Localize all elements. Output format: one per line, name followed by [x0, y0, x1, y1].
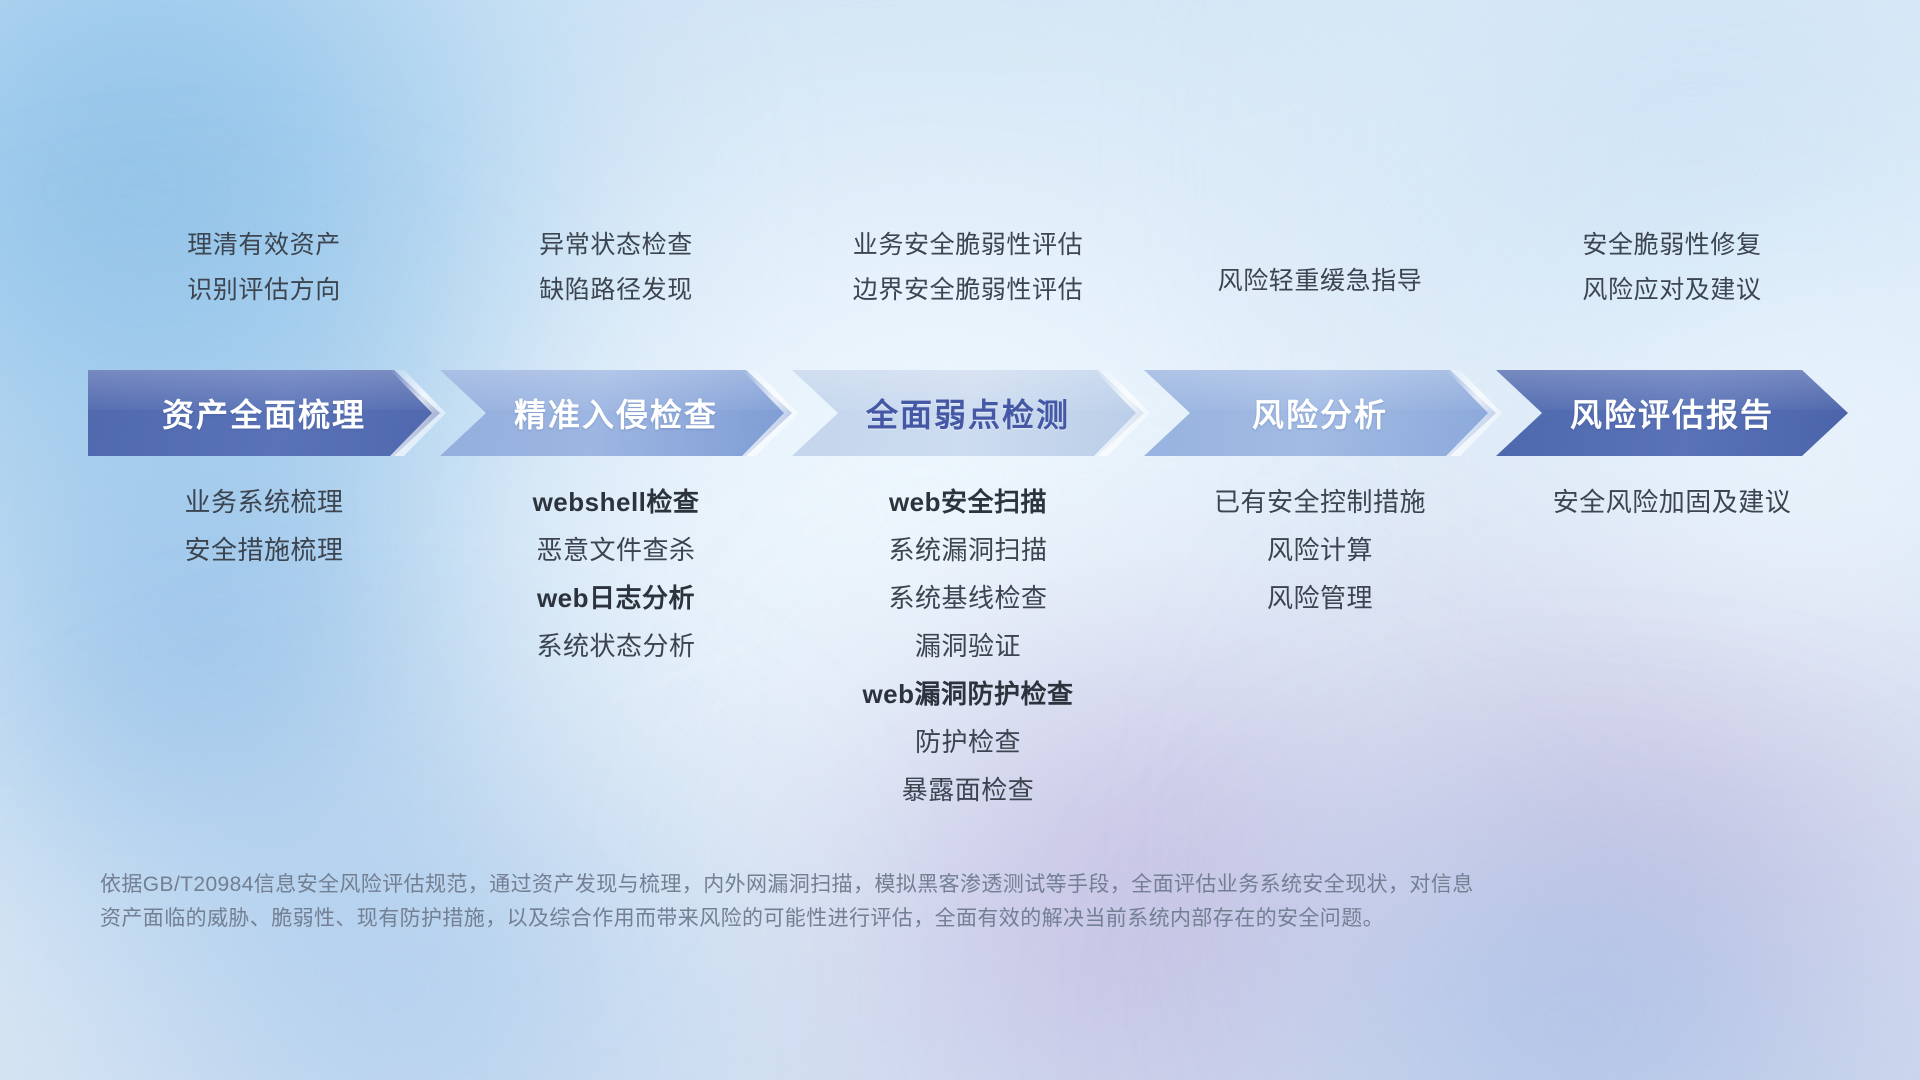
top-caption-column-risk-analysis: 风险轻重缓急指导 [1144, 230, 1496, 305]
top-caption-item: 风险轻重缓急指导 [1218, 266, 1423, 297]
stage-chevron-label: 资产全面梳理 [162, 390, 366, 436]
top-caption-column-intrusion-check: 异常状态检查缺陷路径发现 [440, 230, 792, 305]
bottom-caption-item: 防护检查 [915, 718, 1021, 766]
stage-chevron-asset-inventory[interactable]: 资产全面梳理 [88, 370, 440, 456]
bottom-caption-item: 业务系统梳理 [184, 478, 343, 526]
bottom-caption-column-risk-report: 安全风险加固及建议 [1496, 478, 1848, 526]
bottom-caption-item: 漏洞验证 [915, 622, 1021, 670]
top-caption-item: 异常状态检查 [539, 230, 693, 261]
stage-chevron-risk-report[interactable]: 风险评估报告 [1496, 370, 1848, 456]
bottom-caption-item: 系统漏洞扫描 [888, 526, 1047, 574]
bottom-caption-row: 业务系统梳理安全措施梳理webshell检查恶意文件查杀web日志分析系统状态分… [88, 478, 1848, 814]
bottom-caption-item: 风险计算 [1267, 526, 1373, 574]
bottom-caption-item: 安全措施梳理 [184, 526, 343, 574]
bottom-caption-column-weakness-detection: web安全扫描系统漏洞扫描系统基线检查漏洞验证web漏洞防护检查防护检查暴露面检… [792, 478, 1144, 814]
bottom-caption-column-asset-inventory: 业务系统梳理安全措施梳理 [88, 478, 440, 574]
bottom-caption-item: 安全风险加固及建议 [1553, 478, 1792, 526]
bottom-caption-item: 风险管理 [1267, 574, 1373, 622]
footer-line-2: 资产面临的威胁、脆弱性、现有防护措施，以及综合作用而带来风险的可能性进行评估，全… [100, 902, 1700, 936]
stage-chevron-label: 风险分析 [1252, 390, 1388, 436]
stage-chevron-label: 全面弱点检测 [866, 390, 1070, 436]
top-caption-row: 理清有效资产识别评估方向异常状态检查缺陷路径发现业务安全脆弱性评估边界安全脆弱性… [88, 230, 1848, 305]
footer-line-1: 依据GB/T20984信息安全风险评估规范，通过资产发现与梳理，内外网漏洞扫描，… [100, 868, 1700, 902]
top-caption-item: 缺陷路径发现 [539, 275, 693, 306]
bottom-caption-column-risk-analysis: 已有安全控制措施风险计算风险管理 [1144, 478, 1496, 622]
top-caption-item: 识别评估方向 [187, 275, 341, 306]
bottom-caption-item: web安全扫描 [889, 478, 1047, 526]
stage-chevron-intrusion-check[interactable]: 精准入侵检查 [440, 370, 792, 456]
bottom-caption-item: 已有安全控制措施 [1214, 478, 1426, 526]
process-diagram: 理清有效资产识别评估方向异常状态检查缺陷路径发现业务安全脆弱性评估边界安全脆弱性… [0, 0, 1920, 1080]
stage-chevron-band: 资产全面梳理精准入侵检查全面弱点检测风险分析风险评估报告 [88, 370, 1848, 456]
stage-chevron-risk-analysis[interactable]: 风险分析 [1144, 370, 1496, 456]
top-caption-item: 理清有效资产 [187, 230, 341, 261]
stage-chevron-weakness-detection[interactable]: 全面弱点检测 [792, 370, 1144, 456]
bottom-caption-item: 暴露面检查 [902, 766, 1035, 814]
bottom-caption-column-intrusion-check: webshell检查恶意文件查杀web日志分析系统状态分析 [440, 478, 792, 670]
bottom-caption-item: webshell检查 [533, 478, 700, 526]
bottom-caption-item: 系统状态分析 [536, 622, 695, 670]
bottom-caption-item: web日志分析 [537, 574, 695, 622]
bottom-caption-item: 系统基线检查 [888, 574, 1047, 622]
top-caption-column-risk-report: 安全脆弱性修复风险应对及建议 [1496, 230, 1848, 305]
bottom-caption-item: web漏洞防护检查 [862, 670, 1073, 718]
top-caption-item: 风险应对及建议 [1582, 275, 1761, 306]
stage-chevron-label: 精准入侵检查 [514, 390, 718, 436]
top-caption-column-asset-inventory: 理清有效资产识别评估方向 [88, 230, 440, 305]
top-caption-column-weakness-detection: 业务安全脆弱性评估边界安全脆弱性评估 [792, 230, 1144, 305]
top-caption-item: 边界安全脆弱性评估 [853, 275, 1083, 306]
stage-chevron-label: 风险评估报告 [1570, 390, 1774, 436]
top-caption-item: 业务安全脆弱性评估 [853, 230, 1083, 261]
bottom-caption-item: 恶意文件查杀 [536, 526, 695, 574]
top-caption-item: 安全脆弱性修复 [1582, 230, 1761, 261]
footer-description: 依据GB/T20984信息安全风险评估规范，通过资产发现与梳理，内外网漏洞扫描，… [100, 868, 1700, 936]
